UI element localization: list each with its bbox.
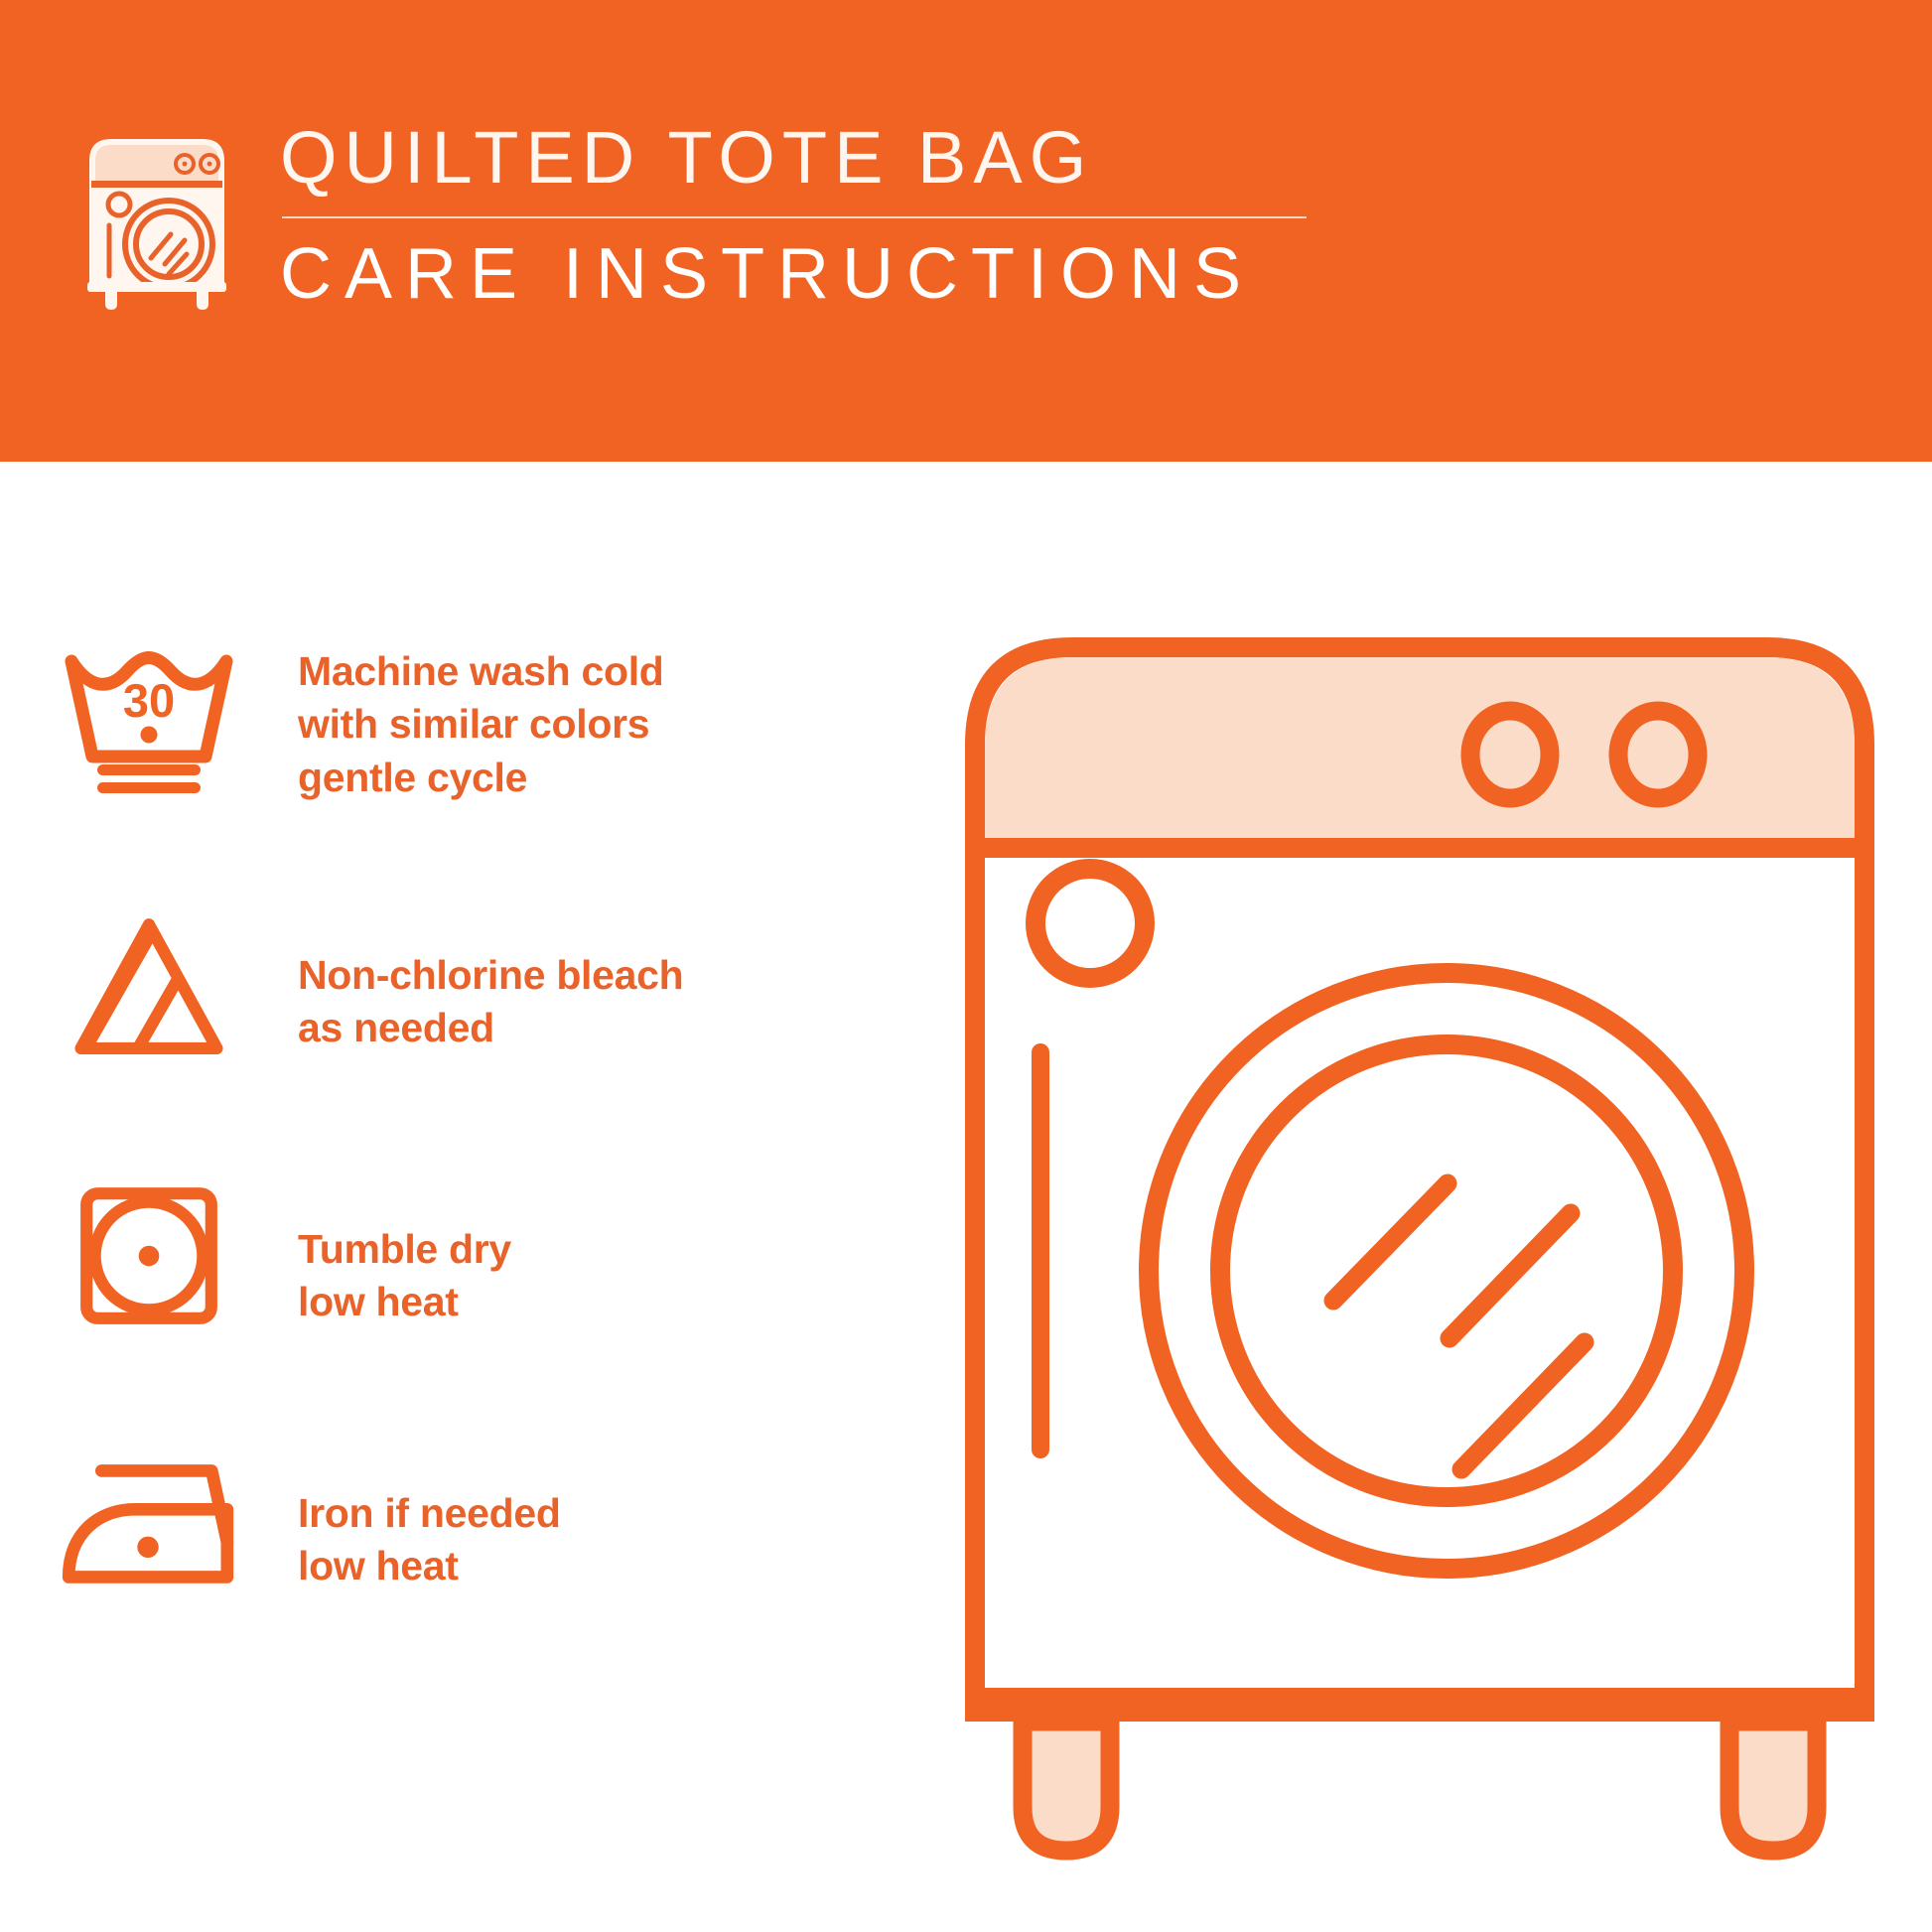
leg-right <box>1729 1722 1817 1851</box>
care-label-line: Tumble dry <box>298 1223 511 1276</box>
knob-left <box>1470 711 1550 798</box>
wash-tub-30-icon: 30 <box>0 635 298 794</box>
page-title: QUILTED TOTE BAG <box>280 121 1324 195</box>
care-label-iron: Iron if needed low heat <box>298 1440 561 1593</box>
washing-machine-icon <box>77 127 236 311</box>
page-header: QUILTED TOTE BAG CARE INSTRUCTIONS <box>0 0 1932 462</box>
care-label-line: with similar colors <box>298 698 664 751</box>
care-label-machine-wash: Machine wash cold with similar colors ge… <box>298 635 664 804</box>
wash-temperature-value: 30 <box>123 674 175 727</box>
top-control-panel <box>985 657 1855 846</box>
care-label-line: gentle cycle <box>298 752 664 804</box>
care-label-line: Machine wash cold <box>298 645 664 698</box>
care-label-tumble-dry: Tumble dry low heat <box>298 1172 511 1329</box>
care-label-bleach: Non-chlorine bleach as needed <box>298 903 683 1055</box>
page-subtitle: CARE INSTRUCTIONS <box>280 238 1324 310</box>
title-divider <box>282 216 1307 218</box>
care-label-line: low heat <box>298 1276 511 1328</box>
care-label-line: Non-chlorine bleach <box>298 949 683 1002</box>
care-item-bleach: Non-chlorine bleach as needed <box>0 903 943 1172</box>
knob-right <box>1618 711 1698 798</box>
care-item-iron: Iron if needed low heat <box>0 1440 943 1708</box>
tumble-dry-low-icon <box>0 1172 298 1330</box>
care-item-tumble-dry: Tumble dry low heat <box>0 1172 943 1440</box>
bleach-triangle-icon <box>0 903 298 1062</box>
care-instructions-page: QUILTED TOTE BAG CARE INSTRUCTIONS 30 Ma… <box>0 0 1932 1932</box>
leg-left <box>1023 1722 1110 1851</box>
care-instruction-list: 30 Machine wash cold with similar colors… <box>0 635 943 1708</box>
care-label-line: Iron if needed <box>298 1487 561 1540</box>
care-label-line: low heat <box>298 1540 561 1592</box>
washing-machine-illustration <box>953 625 1886 1916</box>
iron-low-heat-icon <box>0 1440 298 1594</box>
care-label-line: as needed <box>298 1002 683 1054</box>
header-text-block: QUILTED TOTE BAG CARE INSTRUCTIONS <box>280 121 1324 310</box>
care-item-machine-wash: 30 Machine wash cold with similar colors… <box>0 635 943 903</box>
